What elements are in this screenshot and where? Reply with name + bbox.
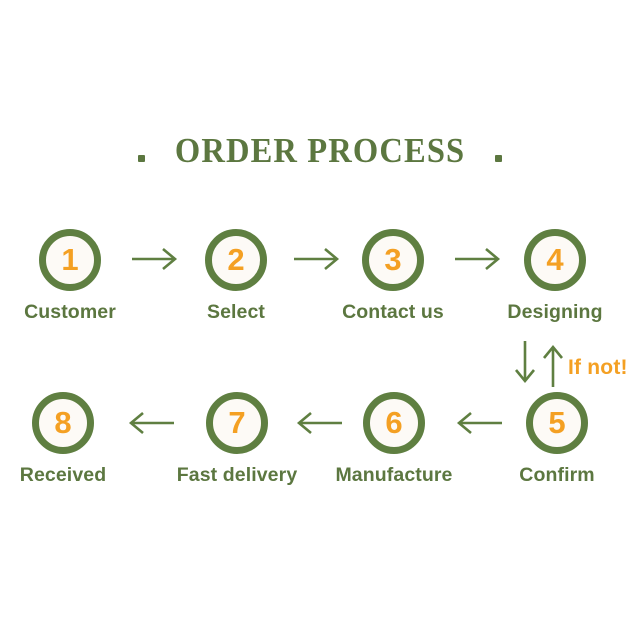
if-not-annotation: If not! [568, 356, 628, 380]
page-title-text: ORDER PROCESS [175, 131, 465, 171]
dot-ornament-icon [495, 155, 502, 162]
step-6-label: Manufacture [324, 464, 464, 487]
step-5-label: Confirm [487, 464, 627, 487]
arrow-down-4-to-5-icon [512, 339, 538, 389]
step-8-label: Received [0, 464, 133, 487]
step-8[interactable]: 8 Received [0, 392, 133, 487]
step-7-circle: 7 [206, 392, 268, 454]
step-2[interactable]: 2 Select [166, 229, 306, 324]
dot-ornament-icon [138, 155, 145, 162]
step-7-label: Fast delivery [167, 464, 307, 487]
step-8-circle: 8 [32, 392, 94, 454]
step-4[interactable]: 4 Designing [485, 229, 625, 324]
step-2-label: Select [166, 301, 306, 324]
page-title: ORDER PROCESS [0, 131, 640, 171]
step-3-label: Contact us [323, 301, 463, 324]
step-4-circle: 4 [524, 229, 586, 291]
step-5-circle: 5 [526, 392, 588, 454]
step-6[interactable]: 6 Manufacture [324, 392, 464, 487]
step-5-number: 5 [548, 407, 565, 438]
step-3[interactable]: 3 Contact us [323, 229, 463, 324]
step-3-number: 3 [384, 244, 401, 275]
step-1-number: 1 [61, 244, 78, 275]
order-process-diagram: ORDER PROCESS 1 Customer 2 Select 3 Cont… [0, 0, 640, 640]
step-3-circle: 3 [362, 229, 424, 291]
step-1[interactable]: 1 Customer [0, 229, 140, 324]
step-1-label: Customer [0, 301, 140, 324]
step-7[interactable]: 7 Fast delivery [167, 392, 307, 487]
step-7-number: 7 [228, 407, 245, 438]
step-4-label: Designing [485, 301, 625, 324]
step-6-circle: 6 [363, 392, 425, 454]
step-4-number: 4 [546, 244, 563, 275]
step-6-number: 6 [385, 407, 402, 438]
step-1-circle: 1 [39, 229, 101, 291]
step-8-number: 8 [54, 407, 71, 438]
step-2-circle: 2 [205, 229, 267, 291]
arrow-up-5-to-4-icon [540, 339, 566, 389]
step-2-number: 2 [227, 244, 244, 275]
step-5[interactable]: 5 Confirm [487, 392, 627, 487]
